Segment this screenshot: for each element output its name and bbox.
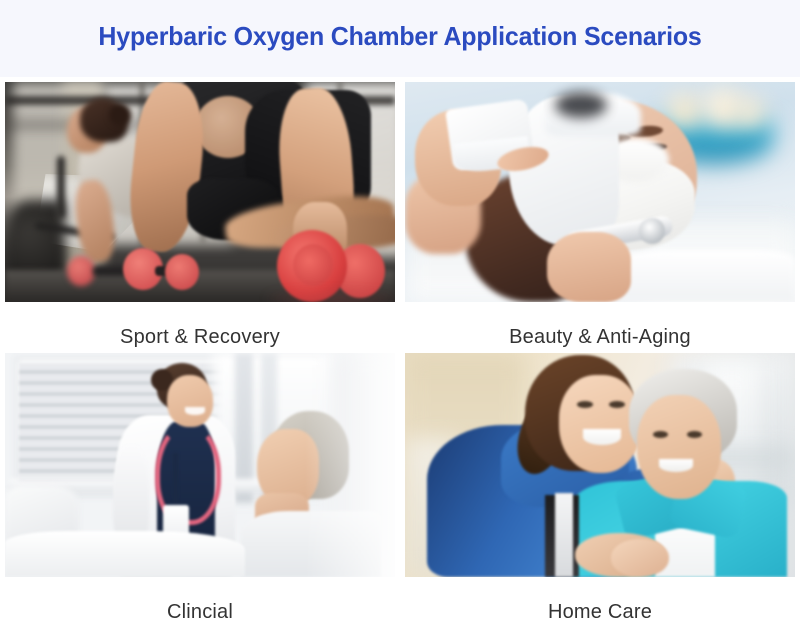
scenario-card-home-care[interactable]: Home Care	[405, 353, 795, 625]
application-scenarios-page: Hyperbaric Oxygen Chamber Application Sc…	[0, 0, 800, 630]
nurse-smile	[583, 429, 621, 445]
clipboard-paper	[555, 493, 573, 577]
image-haze-overlay	[305, 353, 395, 577]
floor-reflection	[267, 294, 395, 302]
athlete-background-hair-bun	[109, 104, 131, 126]
doctor-smile	[185, 407, 205, 415]
gym-machine-bar	[57, 156, 65, 218]
scenario-card-beauty-anti-aging[interactable]: Beauty & Anti-Aging	[405, 82, 795, 353]
page-title: Hyperbaric Oxygen Chamber Application Sc…	[16, 21, 784, 52]
senior-eye	[653, 431, 668, 438]
home-care-image	[405, 353, 795, 577]
doctor-face	[167, 375, 213, 427]
dumbbell	[165, 254, 199, 290]
caption-clinical: Clincial	[5, 577, 395, 622]
spa-candle	[735, 98, 765, 128]
dumbbell	[67, 256, 95, 286]
clinical-image	[5, 353, 395, 577]
senior-face	[637, 395, 721, 499]
page-header: Hyperbaric Oxygen Chamber Application Sc…	[0, 0, 800, 77]
dumbbell-inner	[293, 244, 333, 286]
nurse-eye	[609, 401, 625, 408]
hospital-bed	[5, 531, 245, 577]
caption-beauty-anti-aging: Beauty & Anti-Aging	[405, 302, 795, 347]
spa-hair-cap	[555, 92, 607, 118]
scenario-grid: Sport & Recovery	[5, 82, 795, 625]
therapist-hand	[547, 232, 631, 302]
scenario-card-sport-recovery[interactable]: Sport & Recovery	[5, 82, 395, 353]
scenario-card-clinical[interactable]: Clincial	[5, 353, 395, 625]
caption-home-care: Home Care	[405, 577, 795, 622]
senior-eye	[687, 431, 702, 438]
treatment-tool-knob	[639, 218, 665, 244]
nurse-eye	[577, 401, 593, 408]
beauty-anti-aging-image	[405, 82, 795, 302]
caption-sport-recovery: Sport & Recovery	[5, 302, 395, 347]
held-hands	[611, 539, 669, 577]
sport-recovery-image	[5, 82, 395, 302]
senior-smile	[659, 459, 693, 472]
